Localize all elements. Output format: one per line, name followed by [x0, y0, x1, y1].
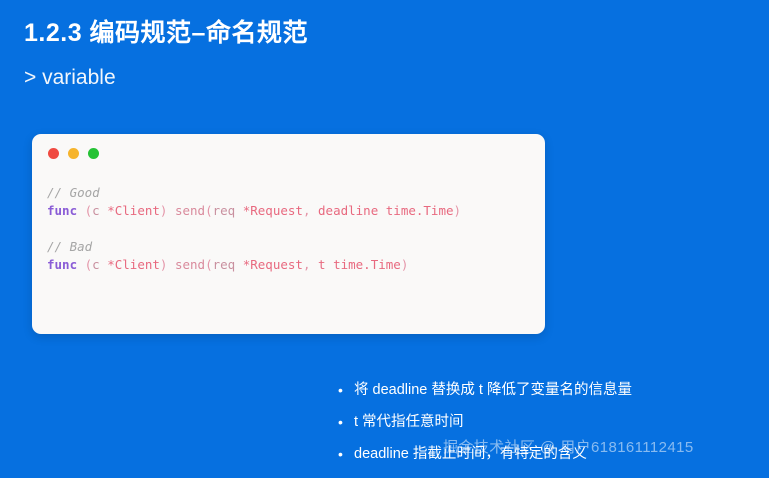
window-traffic-lights [48, 148, 99, 159]
code-token-ident: req [213, 257, 236, 272]
code-token-type: *Client [107, 203, 160, 218]
code-token-comment: // Bad [47, 239, 92, 254]
list-item-label: deadline 指截止时间，有特定的含义 [354, 444, 758, 464]
section-subtitle: > variable [24, 66, 116, 90]
minimize-dot-icon[interactable] [68, 148, 79, 159]
list-item: •t 常代指任意时间 [338, 412, 758, 432]
code-token-plain [77, 203, 85, 218]
code-line: func (c *Client) send(req *Request, t ti… [47, 256, 535, 274]
code-token-plain [310, 257, 318, 272]
code-token-plain [77, 257, 85, 272]
bullet-dot-icon: • [338, 412, 354, 432]
code-token-type: time.Time [333, 257, 401, 272]
code-token-punct: ( [205, 257, 213, 272]
code-token-type: *Request [243, 203, 303, 218]
list-item: •将 deadline 替换成 t 降低了变量名的信息量 [338, 380, 758, 400]
code-line [47, 220, 535, 238]
code-card: // Goodfunc (c *Client) send(req *Reques… [32, 134, 545, 334]
code-token-type: time.Time [386, 203, 454, 218]
maximize-dot-icon[interactable] [88, 148, 99, 159]
code-token-plain [235, 203, 243, 218]
close-dot-icon[interactable] [48, 148, 59, 159]
bullet-dot-icon: • [338, 380, 354, 400]
bullet-dot-icon: • [338, 444, 354, 464]
list-item: •deadline 指截止时间，有特定的含义 [338, 444, 758, 464]
code-line: func (c *Client) send(req *Request, dead… [47, 202, 535, 220]
code-token-ident: c [92, 203, 100, 218]
code-token-plain: send [175, 257, 205, 272]
code-token-ident: req [213, 203, 236, 218]
code-token-plain: send [175, 203, 205, 218]
code-token-plain [326, 257, 334, 272]
list-item-label: 将 deadline 替换成 t 降低了变量名的信息量 [354, 380, 758, 400]
code-token-kw: func [47, 257, 77, 272]
code-token-plain [378, 203, 386, 218]
code-token-plain [310, 203, 318, 218]
code-token-param: t [318, 257, 326, 272]
code-line: // Bad [47, 238, 535, 256]
bullet-list: •将 deadline 替换成 t 降低了变量名的信息量•t 常代指任意时间•d… [338, 380, 758, 476]
code-token-plain [235, 257, 243, 272]
code-token-ident: c [92, 257, 100, 272]
slide-canvas: 1.2.3 编码规范–命名规范 > variable // Goodfunc (… [0, 0, 769, 478]
code-token-type: *Client [107, 257, 160, 272]
code-token-plain [167, 257, 175, 272]
code-token-punct: ) [401, 257, 409, 272]
code-token-punct: ) [454, 203, 462, 218]
code-token-param: deadline [318, 203, 378, 218]
code-line: // Good [47, 184, 535, 202]
code-token-comment: // Good [47, 185, 100, 200]
page-title: 1.2.3 编码规范–命名规范 [24, 13, 308, 49]
code-token-type: *Request [243, 257, 303, 272]
code-token-kw: func [47, 203, 77, 218]
code-token-punct: ( [205, 203, 213, 218]
code-block: // Goodfunc (c *Client) send(req *Reques… [47, 184, 535, 274]
code-token-plain [167, 203, 175, 218]
list-item-label: t 常代指任意时间 [354, 412, 758, 432]
